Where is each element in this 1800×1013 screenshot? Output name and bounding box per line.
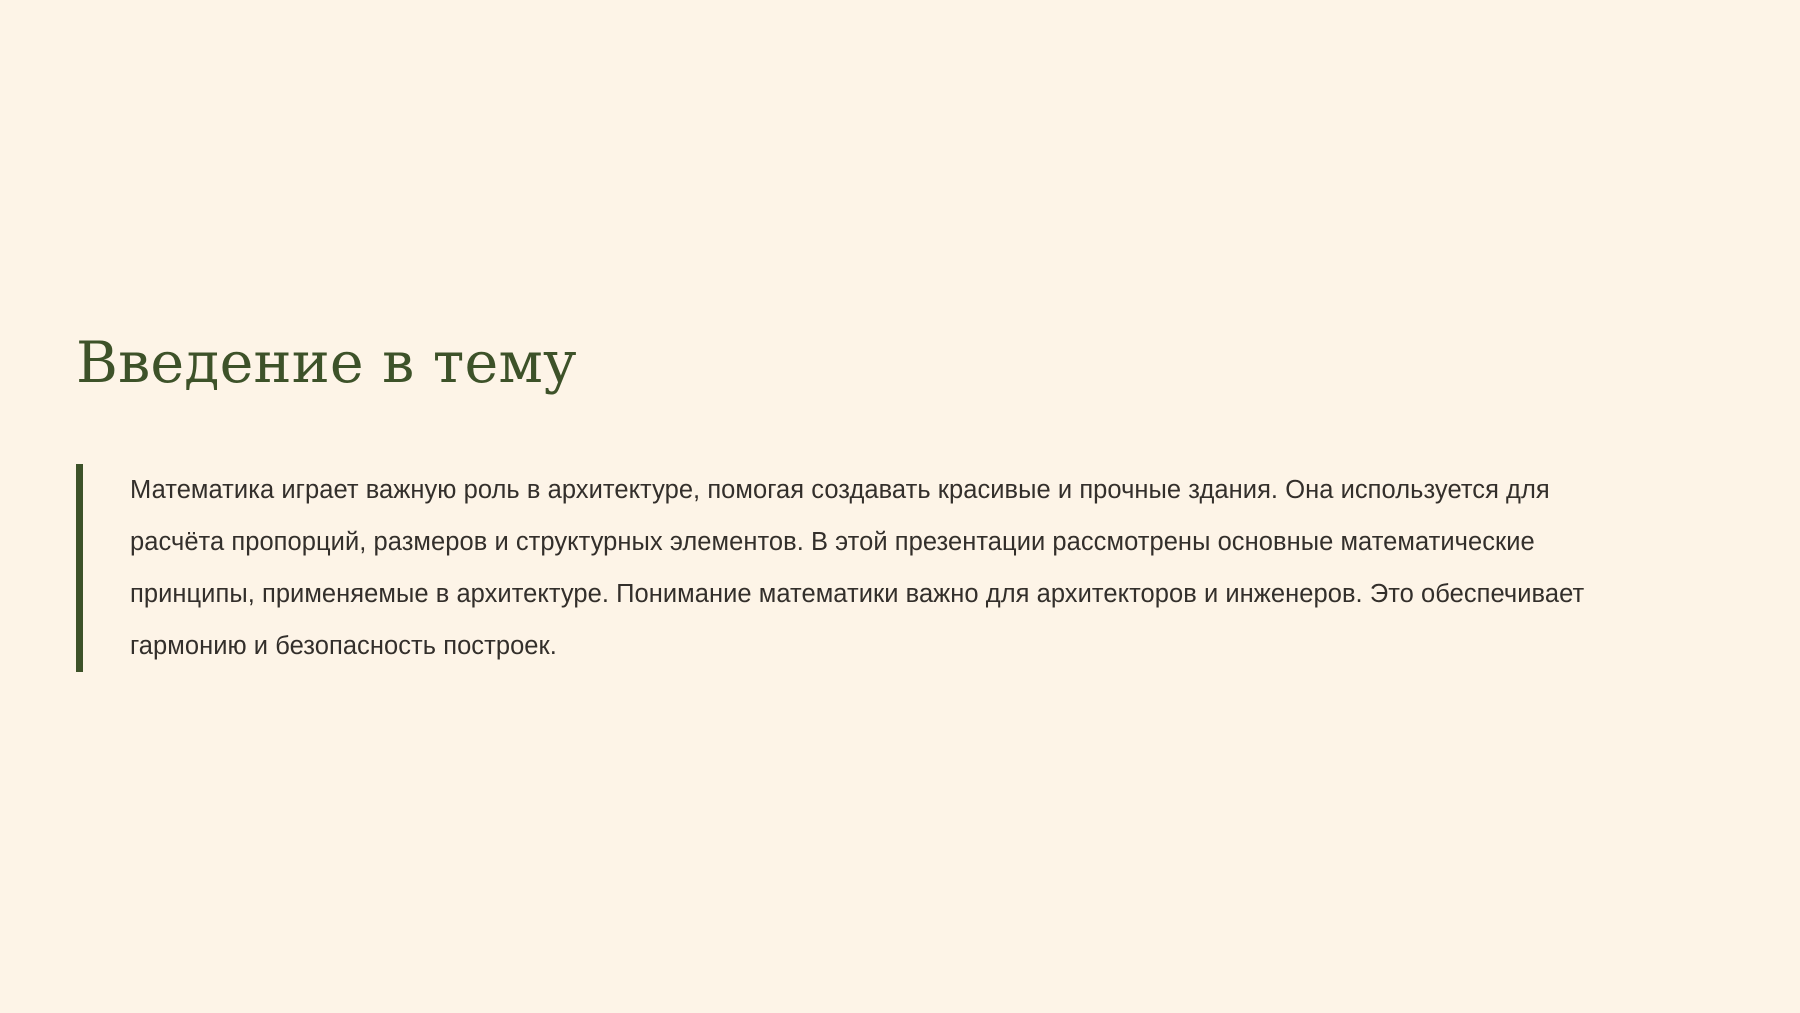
presentation-slide: Введение в тему Математика играет важную… <box>0 0 1800 1013</box>
body-paragraph: Математика играет важную роль в архитект… <box>83 464 1642 672</box>
body-quote-block: Математика играет важную роль в архитект… <box>76 464 1696 672</box>
page-title: Введение в тему <box>76 332 577 396</box>
accent-bar <box>76 464 83 672</box>
